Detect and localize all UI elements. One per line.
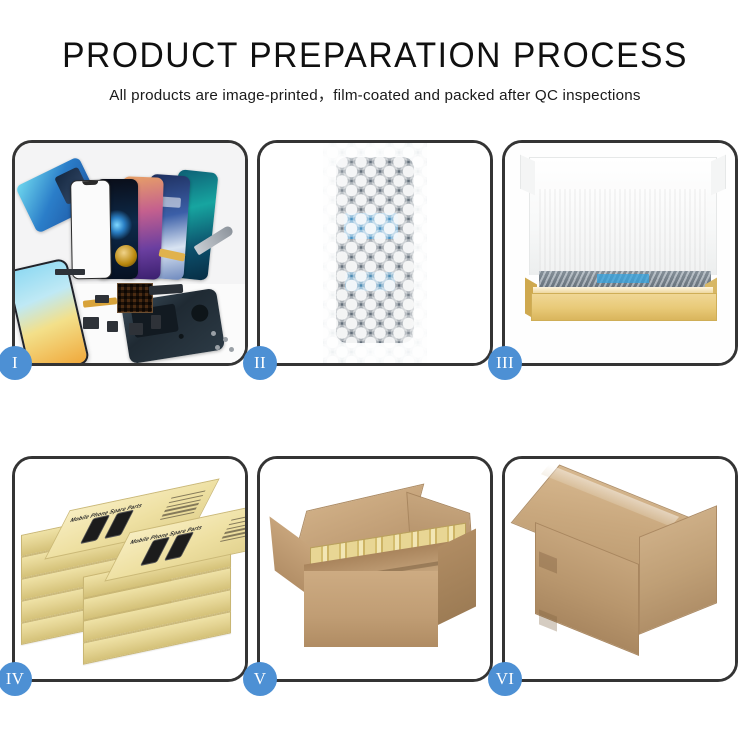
page-title: PRODUCT PREPARATION PROCESS: [15, 36, 735, 76]
step-panel-2[interactable]: II: [257, 140, 493, 366]
step-badge-1: I: [0, 346, 32, 380]
screws-group: [209, 329, 239, 353]
spare-parts-group: [77, 255, 205, 355]
flex-cable-c: [149, 284, 184, 295]
step-badge-5: V: [243, 662, 277, 696]
box-spec-lines: [218, 512, 245, 545]
step-image-4: Mobile Phone Spare Parts Mobile Phone Sp…: [15, 459, 245, 679]
product-preparation-infographic: PRODUCT PREPARATION PROCESS All products…: [0, 0, 750, 750]
step-panel-5[interactable]: V: [257, 456, 493, 682]
step-image-5: [260, 459, 490, 679]
speaker-part: [115, 245, 137, 267]
step-panel-4[interactable]: Mobile Phone Spare Parts Mobile Phone Sp…: [12, 456, 248, 682]
small-part-2: [83, 317, 99, 329]
small-part-5: [151, 315, 161, 329]
step-badge-4: IV: [0, 662, 32, 696]
step-image-1: [15, 143, 245, 363]
steps-grid: I II III: [12, 140, 738, 682]
mesh-chip-part: [117, 283, 153, 313]
step-panel-1[interactable]: I: [12, 140, 248, 366]
step-badge-2: II: [243, 346, 277, 380]
small-part-4: [129, 323, 143, 335]
box-front-panel: [531, 293, 717, 321]
header: PRODUCT PREPARATION PROCESS All products…: [0, 0, 750, 106]
step-panel-6[interactable]: VI: [502, 456, 738, 682]
step-image-2: [260, 143, 490, 363]
small-part-1: [55, 269, 85, 275]
carton-front-panel: [304, 571, 438, 647]
step-badge-6: VI: [488, 662, 522, 696]
page-subtitle: All products are image-printed，film-coat…: [0, 86, 750, 106]
step-badge-3: III: [488, 346, 522, 380]
foam-padding: [539, 189, 707, 275]
small-part-3: [107, 321, 118, 332]
step-image-3: [505, 143, 735, 363]
box-stack: Mobile Phone Spare Parts Mobile Phone Sp…: [17, 477, 245, 675]
step-image-6: [505, 459, 735, 679]
small-part-6: [95, 295, 109, 303]
plastic-sheen: [323, 143, 427, 363]
step-panel-3[interactable]: III: [502, 140, 738, 366]
